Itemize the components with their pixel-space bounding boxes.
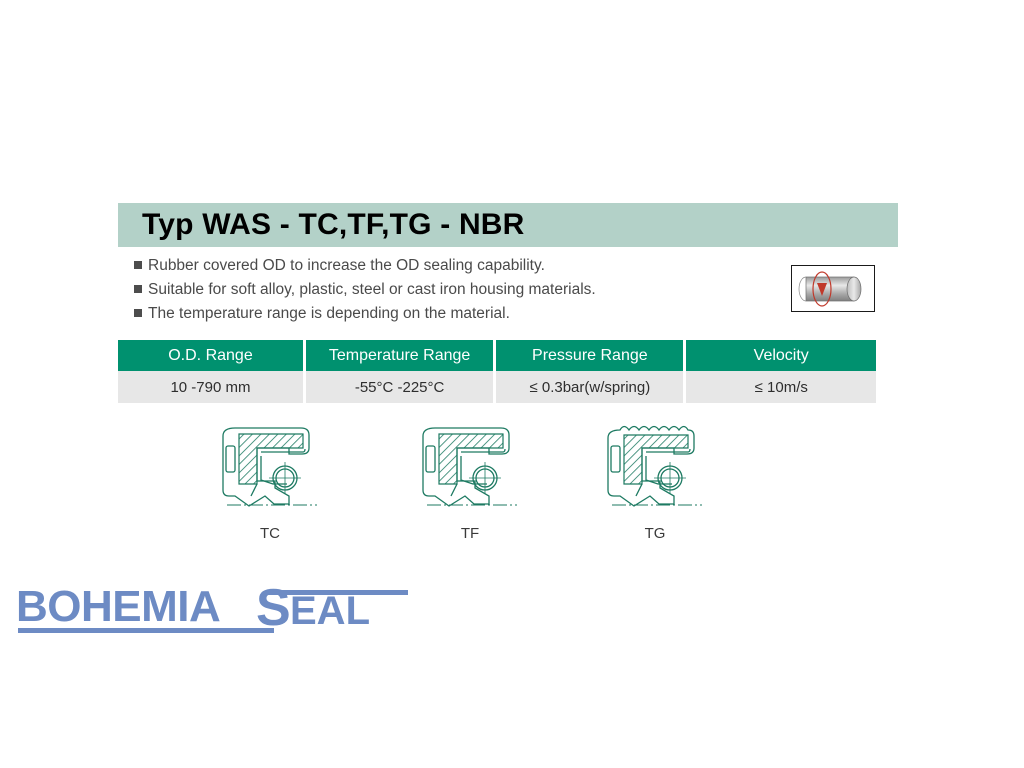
seal-diagram-tf: TF <box>395 418 545 542</box>
column-header-od-range: O.D. Range <box>118 340 306 371</box>
seal-label-tc: TC <box>195 525 345 542</box>
column-header-velocity: Velocity <box>686 340 876 371</box>
rotating-shaft-icon-svg <box>792 266 874 311</box>
list-item: The temperature range is depending on th… <box>134 304 774 324</box>
seal-diagram-tc: TC <box>195 418 345 542</box>
square-bullet-icon <box>134 285 142 293</box>
cell-velocity: ≤ 10m/s <box>686 371 876 403</box>
rotating-shaft-icon <box>791 265 875 312</box>
seal-cross-section-icon <box>417 418 523 520</box>
column-header-pressure-range: Pressure Range <box>496 340 686 371</box>
logo-eal-glyph: EAL <box>290 589 370 633</box>
seal-cross-section-icon <box>602 418 708 520</box>
cell-temperature-range: -55°C -225°C <box>306 371 496 403</box>
logo-bottom-bar <box>18 628 274 633</box>
seal-cross-section-icon <box>217 418 323 520</box>
seal-label-tg: TG <box>580 525 730 542</box>
spec-table-element: O.D. Range Temperature Range Pressure Ra… <box>118 340 876 403</box>
title-banner: Typ WAS - TC,TF,TG - NBR <box>118 203 898 247</box>
feature-label: Suitable for soft alloy, plastic, steel … <box>148 280 596 300</box>
list-item: Suitable for soft alloy, plastic, steel … <box>134 280 774 300</box>
seal-diagram-tg: TG <box>580 418 730 542</box>
seal-label-tf: TF <box>395 525 545 542</box>
table-row: 10 -790 mm -55°C -225°C ≤ 0.3bar(w/sprin… <box>118 371 876 403</box>
seal-diagram-tg-figure <box>580 418 730 523</box>
spec-table: O.D. Range Temperature Range Pressure Ra… <box>118 340 876 403</box>
feature-label: Rubber covered OD to increase the OD sea… <box>148 256 545 276</box>
square-bullet-icon <box>134 261 142 269</box>
list-item: Rubber covered OD to increase the OD sea… <box>134 256 774 276</box>
column-header-temperature-range: Temperature Range <box>306 340 496 371</box>
feature-label: The temperature range is depending on th… <box>148 304 510 324</box>
bohemia-seal-logo: BOHEMIA S EAL <box>14 578 414 640</box>
seal-diagram-tf-figure <box>395 418 545 523</box>
feature-list: Rubber covered OD to increase the OD sea… <box>134 256 774 328</box>
logo-top-bar <box>266 590 408 595</box>
square-bullet-icon <box>134 309 142 317</box>
cell-od-range: 10 -790 mm <box>118 371 306 403</box>
cell-pressure-range: ≤ 0.3bar(w/spring) <box>496 371 686 403</box>
page-title: Typ WAS - TC,TF,TG - NBR <box>118 208 525 242</box>
seal-diagram-row: TC <box>118 418 878 553</box>
seal-diagram-tc-figure <box>195 418 345 523</box>
logo-primary-text: BOHEMIA <box>16 582 220 631</box>
table-header-row: O.D. Range Temperature Range Pressure Ra… <box>118 340 876 371</box>
bohemia-seal-logo-svg: BOHEMIA S EAL <box>14 578 414 640</box>
